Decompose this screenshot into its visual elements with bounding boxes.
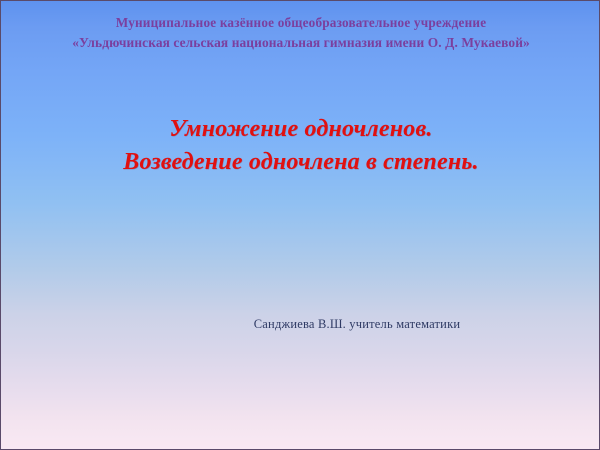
title-line-1: Умножение одночленов.	[1, 113, 600, 146]
author-inner: Санджиева В.Ш. учитель математики	[254, 316, 460, 332]
title-line-2: Возведение одночлена в степень.	[1, 146, 600, 179]
author-name-and-role: Санджиева В.Ш. учитель математики	[254, 316, 460, 332]
header-line-institution-name: «Ульдючинская сельская национальная гимн…	[1, 33, 600, 53]
slide-author: Санджиева В.Ш. учитель математики	[1, 315, 600, 333]
slide-title: Умножение одночленов. Возведение одночле…	[1, 113, 600, 179]
header-line-institution-type: Муниципальное казённое общеобразовательн…	[1, 13, 600, 33]
slide-header: Муниципальное казённое общеобразовательн…	[1, 13, 600, 53]
presentation-slide: Муниципальное казённое общеобразовательн…	[0, 0, 600, 450]
